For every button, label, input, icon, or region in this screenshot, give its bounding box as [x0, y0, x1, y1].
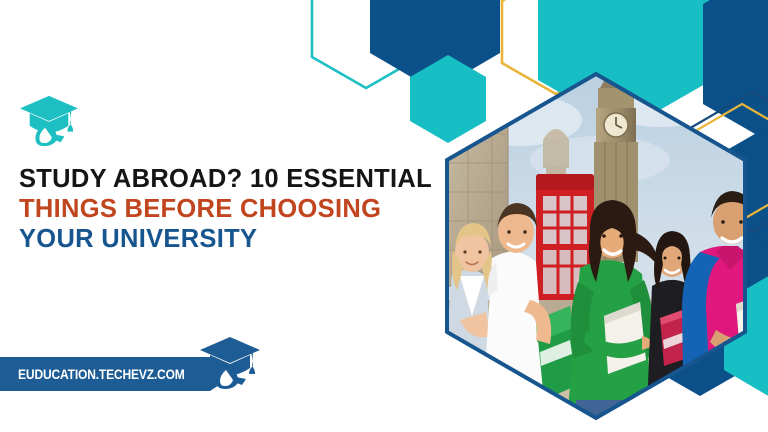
headline: STUDY ABROAD? 10 ESSENTIAL THINGS BEFORE…	[19, 164, 459, 254]
headline-line-2: THINGS BEFORE CHOOSING	[19, 194, 459, 224]
headline-line-3: YOUR UNIVERSITY	[19, 224, 459, 254]
banner-canvas: STUDY ABROAD? 10 ESSENTIAL THINGS BEFORE…	[0, 0, 768, 432]
headline-line-1: STUDY ABROAD? 10 ESSENTIAL	[19, 164, 459, 194]
graduation-cap-icon	[196, 334, 262, 392]
site-url-text: EUDUCATION.TECHEVZ.COM	[0, 366, 185, 382]
graduation-cap-icon	[18, 92, 80, 148]
hexagon-filled-navy-right	[703, 0, 768, 154]
